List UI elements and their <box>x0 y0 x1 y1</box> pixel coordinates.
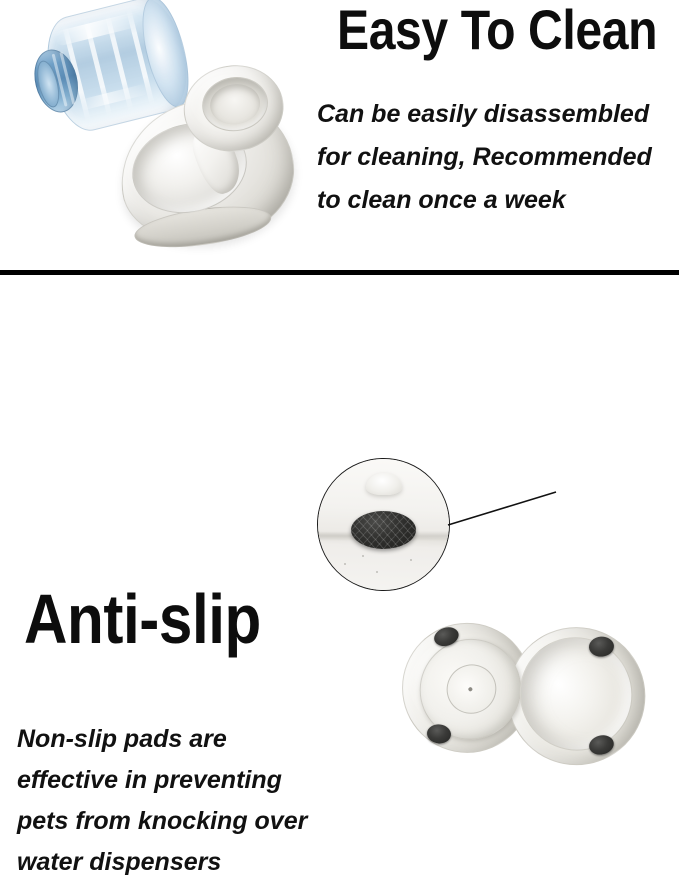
surface-speck <box>410 559 412 561</box>
infographic-page: Easy To Clean Can be easily disassembled… <box>0 0 679 601</box>
body-line: effective in preventing <box>17 760 307 801</box>
magnifier-base-nub <box>366 473 402 495</box>
base-underside-illustration <box>378 549 668 835</box>
body-line: to clean once a week <box>317 179 652 222</box>
product-photo-base-underside <box>398 588 679 808</box>
body-line: for cleaning, Recommended <box>317 136 652 179</box>
body-line: Can be easily disassembled <box>317 93 652 136</box>
magnifier-callout-pad <box>317 458 450 591</box>
body-line: Non-slip pads are <box>17 719 307 760</box>
base-underside-bowl <box>498 615 655 772</box>
section-body-easy-to-clean: Can be easily disassembled for cleaning,… <box>317 93 652 222</box>
collar-inner-ring <box>199 73 272 136</box>
section-heading-easy-to-clean: Easy To Clean <box>337 2 657 58</box>
section-body-anti-slip: Non-slip pads are effective in preventin… <box>17 719 307 883</box>
body-line: water dispensers <box>17 842 307 883</box>
surface-speck <box>362 555 364 557</box>
collar-opening <box>208 81 263 128</box>
magnified-anti-slip-pad <box>351 511 416 549</box>
section-heading-anti-slip: Anti-slip <box>24 582 261 656</box>
dispenser-base-illustration <box>107 59 301 253</box>
product-photo-disassembled <box>0 0 312 262</box>
section-divider <box>0 270 679 275</box>
body-line: pets from knocking over <box>17 801 307 842</box>
section-easy-to-clean: Easy To Clean Can be easily disassembled… <box>0 0 679 271</box>
pad-texture <box>351 511 416 549</box>
surface-speck <box>344 563 346 565</box>
surface-speck <box>376 571 378 573</box>
